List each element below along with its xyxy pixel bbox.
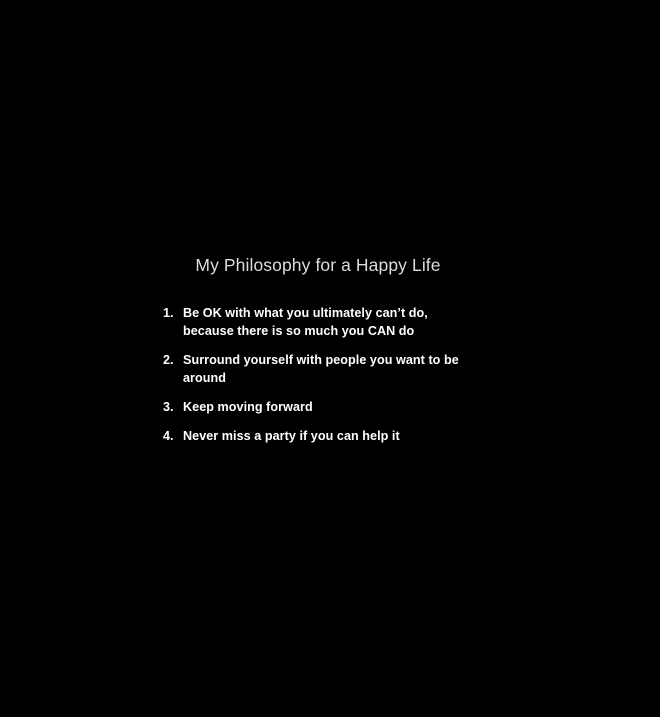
list-item: 4. Never miss a party if you can help it: [163, 427, 478, 445]
list-item-number: 2.: [163, 351, 174, 369]
slide-content-block: My Philosophy for a Happy Life 1. Be OK …: [163, 255, 473, 445]
list-item-text: Keep moving forward: [183, 398, 478, 416]
list-item-text: Surround yourself with people you want t…: [183, 351, 478, 387]
list-item-number: 1.: [163, 304, 174, 322]
list-item: 1. Be OK with what you ultimately can’t …: [163, 304, 478, 340]
list-item-number: 3.: [163, 398, 174, 416]
page-title: My Philosophy for a Happy Life: [163, 255, 473, 277]
list-item: 3. Keep moving forward: [163, 398, 478, 416]
list-item-text: Never miss a party if you can help it: [183, 427, 478, 445]
philosophy-list: 1. Be OK with what you ultimately can’t …: [163, 304, 473, 445]
slide-canvas: My Philosophy for a Happy Life 1. Be OK …: [0, 0, 660, 717]
list-item-text: Be OK with what you ultimately can’t do,…: [183, 304, 478, 340]
list-item: 2. Surround yourself with people you wan…: [163, 351, 478, 387]
list-item-number: 4.: [163, 427, 174, 445]
